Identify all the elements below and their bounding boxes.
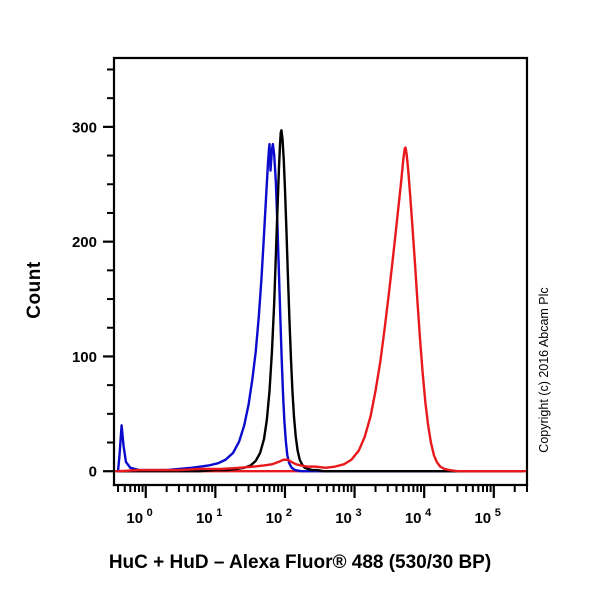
svg-text:5: 5: [495, 507, 501, 519]
svg-text:2: 2: [286, 507, 292, 519]
svg-text:10: 10: [126, 510, 143, 527]
figure-background: [0, 0, 600, 600]
y-tick-label: 100: [72, 349, 97, 366]
svg-text:3: 3: [356, 507, 362, 519]
svg-text:10: 10: [405, 510, 422, 527]
y-tick-label: 300: [72, 119, 97, 136]
flow-cytometry-histogram: 0100200300 100101102103104105 Count HuC …: [0, 0, 600, 600]
svg-text:10: 10: [196, 510, 213, 527]
plot-title: HuC + HuD – Alexa Fluor® 488 (530/30 BP): [109, 552, 491, 573]
svg-text:10: 10: [474, 510, 491, 527]
svg-text:4: 4: [425, 507, 432, 519]
copyright-notice: Copyright (c) 2016 Abcam Plc: [537, 287, 551, 452]
y-tick-label: 0: [89, 464, 97, 481]
y-tick-label: 200: [72, 234, 97, 251]
svg-text:10: 10: [266, 510, 283, 527]
svg-text:10: 10: [335, 510, 352, 527]
y-axis-title: Count: [24, 261, 45, 319]
svg-text:1: 1: [216, 507, 222, 519]
svg-text:0: 0: [147, 507, 153, 519]
